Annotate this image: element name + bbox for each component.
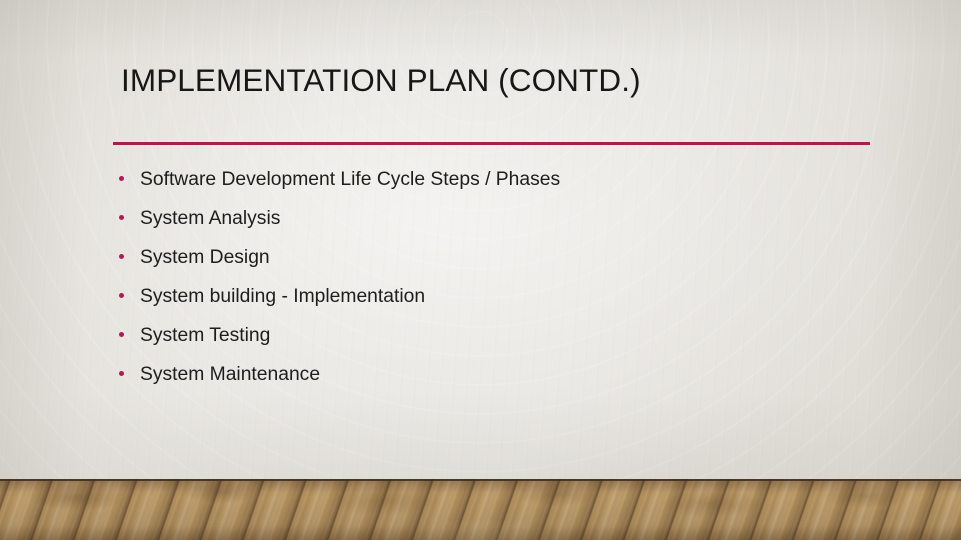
floor-top-edge xyxy=(0,479,961,481)
bullet-list: Software Development Life Cycle Steps / … xyxy=(113,164,903,398)
title-divider-rule xyxy=(113,142,870,145)
wooden-floor-graphic xyxy=(0,479,961,540)
list-item: System Maintenance xyxy=(113,359,903,398)
slide-title: IMPLEMENTATION PLAN (CONTD.) xyxy=(121,60,881,100)
list-item: System building - Implementation xyxy=(113,281,903,320)
bullet-dot-icon xyxy=(119,332,124,337)
list-item: System Design xyxy=(113,242,903,281)
bullet-text: Software Development Life Cycle Steps / … xyxy=(140,169,560,190)
list-item: System Testing xyxy=(113,320,903,359)
list-item: Software Development Life Cycle Steps / … xyxy=(113,164,903,203)
bullet-dot-icon xyxy=(119,254,124,259)
floor-shading xyxy=(0,479,961,540)
bullet-text: System Design xyxy=(140,247,270,268)
bullet-text: System Testing xyxy=(140,325,270,346)
bullet-text: System Analysis xyxy=(140,208,280,229)
bullet-text: System Maintenance xyxy=(140,364,320,385)
bullet-dot-icon xyxy=(119,176,124,181)
bullet-text: System building - Implementation xyxy=(140,286,425,307)
list-item: System Analysis xyxy=(113,203,903,242)
presentation-slide: IMPLEMENTATION PLAN (CONTD.) Software De… xyxy=(0,0,961,540)
bullet-dot-icon xyxy=(119,215,124,220)
bullet-dot-icon xyxy=(119,371,124,376)
bullet-dot-icon xyxy=(119,293,124,298)
